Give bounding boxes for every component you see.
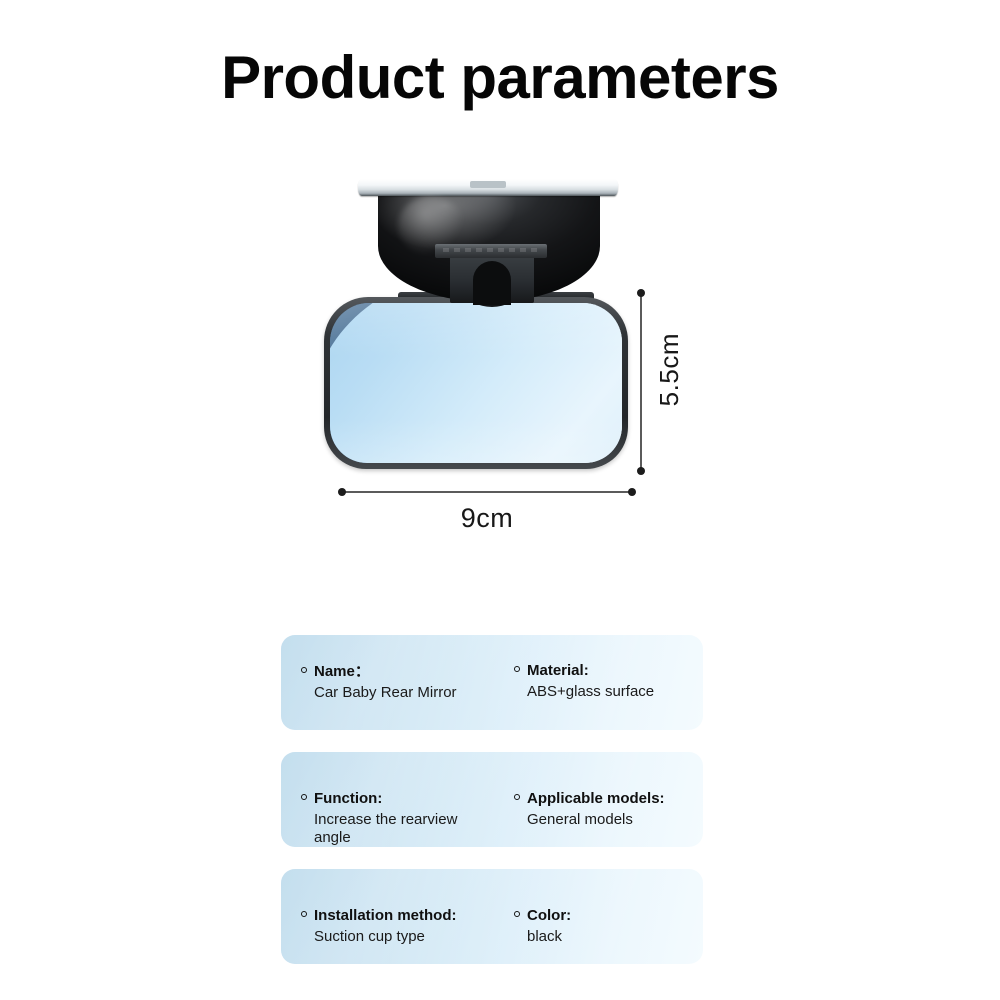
spec-entry: Function: Increase the rearview angle bbox=[314, 752, 504, 847]
spec-value: black bbox=[527, 928, 702, 947]
spec-entry: Applicable models: General models bbox=[527, 752, 703, 847]
spec-value: Suction cup type bbox=[314, 928, 489, 947]
product-parameters-page: Product parameters 5.5cm 9cm bbox=[0, 0, 1000, 1000]
product-illustration: 5.5cm 9cm bbox=[280, 165, 720, 545]
dimension-line-height bbox=[640, 293, 642, 471]
dimension-line-width bbox=[342, 491, 632, 493]
spec-label: Function: bbox=[314, 790, 504, 808]
spec-label-text: Color: bbox=[527, 907, 571, 924]
dimension-cap-bottom bbox=[637, 467, 645, 475]
spec-label: Name： bbox=[314, 663, 504, 681]
spec-card-list: Name： Car Baby Rear Mirror Material: ABS… bbox=[281, 635, 703, 964]
spec-label-text: Name： bbox=[314, 663, 370, 680]
mirror-frame bbox=[324, 297, 628, 469]
bullet-circle-icon bbox=[301, 794, 307, 800]
spec-card: Function: Increase the rearview angle Ap… bbox=[281, 752, 703, 847]
spec-value: General models bbox=[527, 811, 702, 830]
suction-cup-plate bbox=[358, 179, 618, 196]
spec-entry: Name： Car Baby Rear Mirror bbox=[314, 635, 504, 730]
spec-card: Name： Car Baby Rear Mirror Material: ABS… bbox=[281, 635, 703, 730]
dimension-label-height: 5.5cm bbox=[654, 333, 685, 406]
page-title: Product parameters bbox=[0, 46, 1000, 109]
bullet-circle-icon bbox=[301, 911, 307, 917]
mirror-glass bbox=[330, 303, 622, 463]
spec-label-text: Material: bbox=[527, 662, 589, 679]
bullet-circle-icon bbox=[301, 667, 307, 673]
spec-label-text: Installation method: bbox=[314, 907, 457, 924]
spec-label-text: Function: bbox=[314, 790, 382, 807]
spec-value: Car Baby Rear Mirror bbox=[314, 684, 489, 703]
spec-label: Color: bbox=[527, 907, 703, 925]
dimension-label-width: 9cm bbox=[342, 503, 632, 534]
spec-value: ABS+glass surface bbox=[527, 683, 702, 702]
spec-value: Increase the rearview angle bbox=[314, 811, 489, 847]
dimension-cap-top bbox=[637, 289, 645, 297]
mount-bracket-bar bbox=[435, 244, 547, 258]
bullet-circle-icon bbox=[514, 666, 520, 672]
spec-label-text: Applicable models: bbox=[527, 790, 665, 807]
bullet-circle-icon bbox=[514, 911, 520, 917]
dimension-cap-right bbox=[628, 488, 636, 496]
spec-entry: Color: black bbox=[527, 869, 703, 964]
spec-label: Applicable models: bbox=[527, 790, 703, 808]
spec-entry: Material: ABS+glass surface bbox=[527, 635, 703, 730]
spec-entry: Installation method: Suction cup type bbox=[314, 869, 504, 964]
mount-bracket-arch bbox=[473, 261, 511, 305]
bullet-circle-icon bbox=[514, 794, 520, 800]
dimension-cap-left bbox=[338, 488, 346, 496]
spec-label: Installation method: bbox=[314, 907, 504, 925]
spec-label: Material: bbox=[527, 662, 703, 680]
spec-card: Installation method: Suction cup type Co… bbox=[281, 869, 703, 964]
mirror-glass-sheen bbox=[330, 303, 622, 463]
